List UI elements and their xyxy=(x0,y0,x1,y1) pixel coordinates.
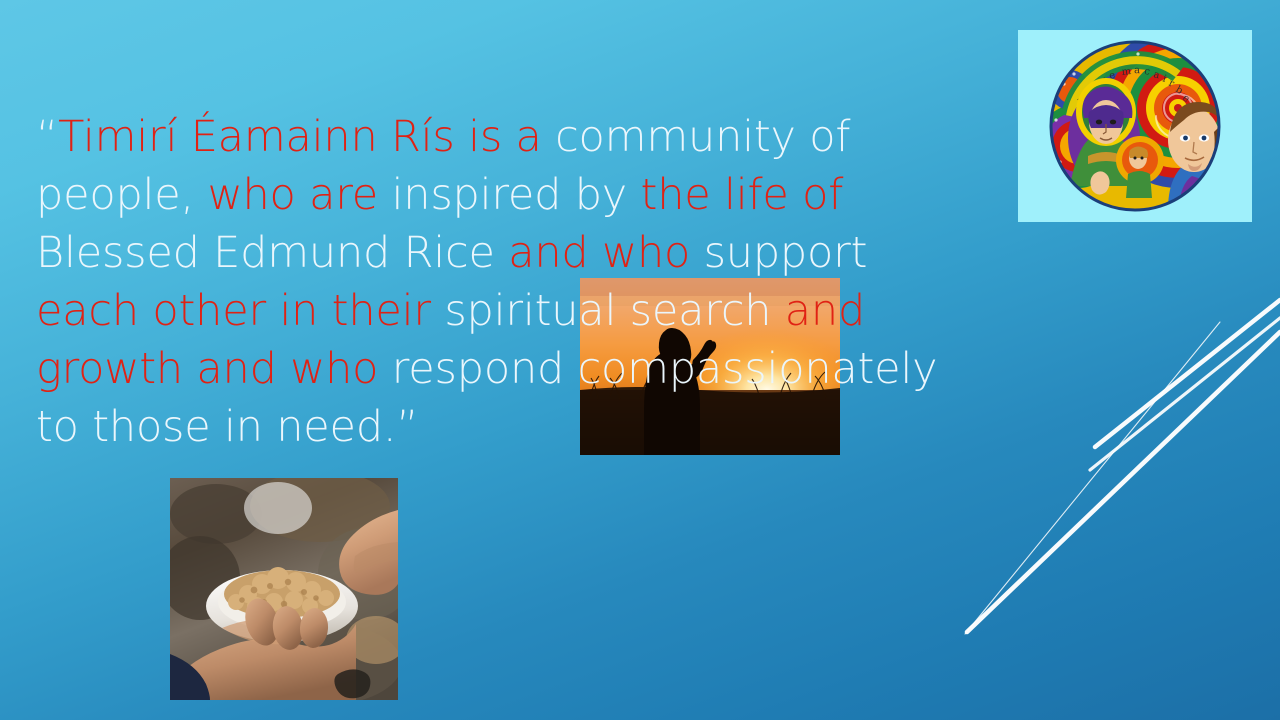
open-quote-mark: “ xyxy=(36,112,58,162)
edmund-rice-madonna-icon: m u i r e m a c a i r b e xyxy=(1018,30,1252,222)
quote-segment-3: who are xyxy=(208,170,392,220)
quote-text: “Timirí Éamainn Rís is a community of pe… xyxy=(36,108,966,456)
quote-segment-5: the life of xyxy=(641,170,844,220)
quote-segment-7: and who xyxy=(508,228,703,278)
svg-text:m: m xyxy=(1121,66,1132,78)
streak-line-2 xyxy=(1090,318,1280,470)
quote-segment-4: inspired by xyxy=(392,170,641,220)
quote-segment-10: spiritual search xyxy=(444,286,784,336)
quote-segment-8: support xyxy=(704,228,868,278)
streak-line-4 xyxy=(965,322,1220,634)
sharing-food-photo xyxy=(170,478,398,700)
streak-line-1 xyxy=(1095,300,1280,447)
streak-line-3 xyxy=(967,332,1280,632)
slide-canvas: “Timirí Éamainn Rís is a community of pe… xyxy=(0,0,1280,720)
svg-text:a: a xyxy=(1134,65,1140,76)
quote-segment-1: Timirí Éamainn Rís is a xyxy=(58,112,555,162)
quote-segment-9: each other in their xyxy=(36,286,444,336)
close-quote-mark: ” xyxy=(396,402,418,452)
quote-segment-6: Blessed Edmund Rice xyxy=(36,228,508,278)
